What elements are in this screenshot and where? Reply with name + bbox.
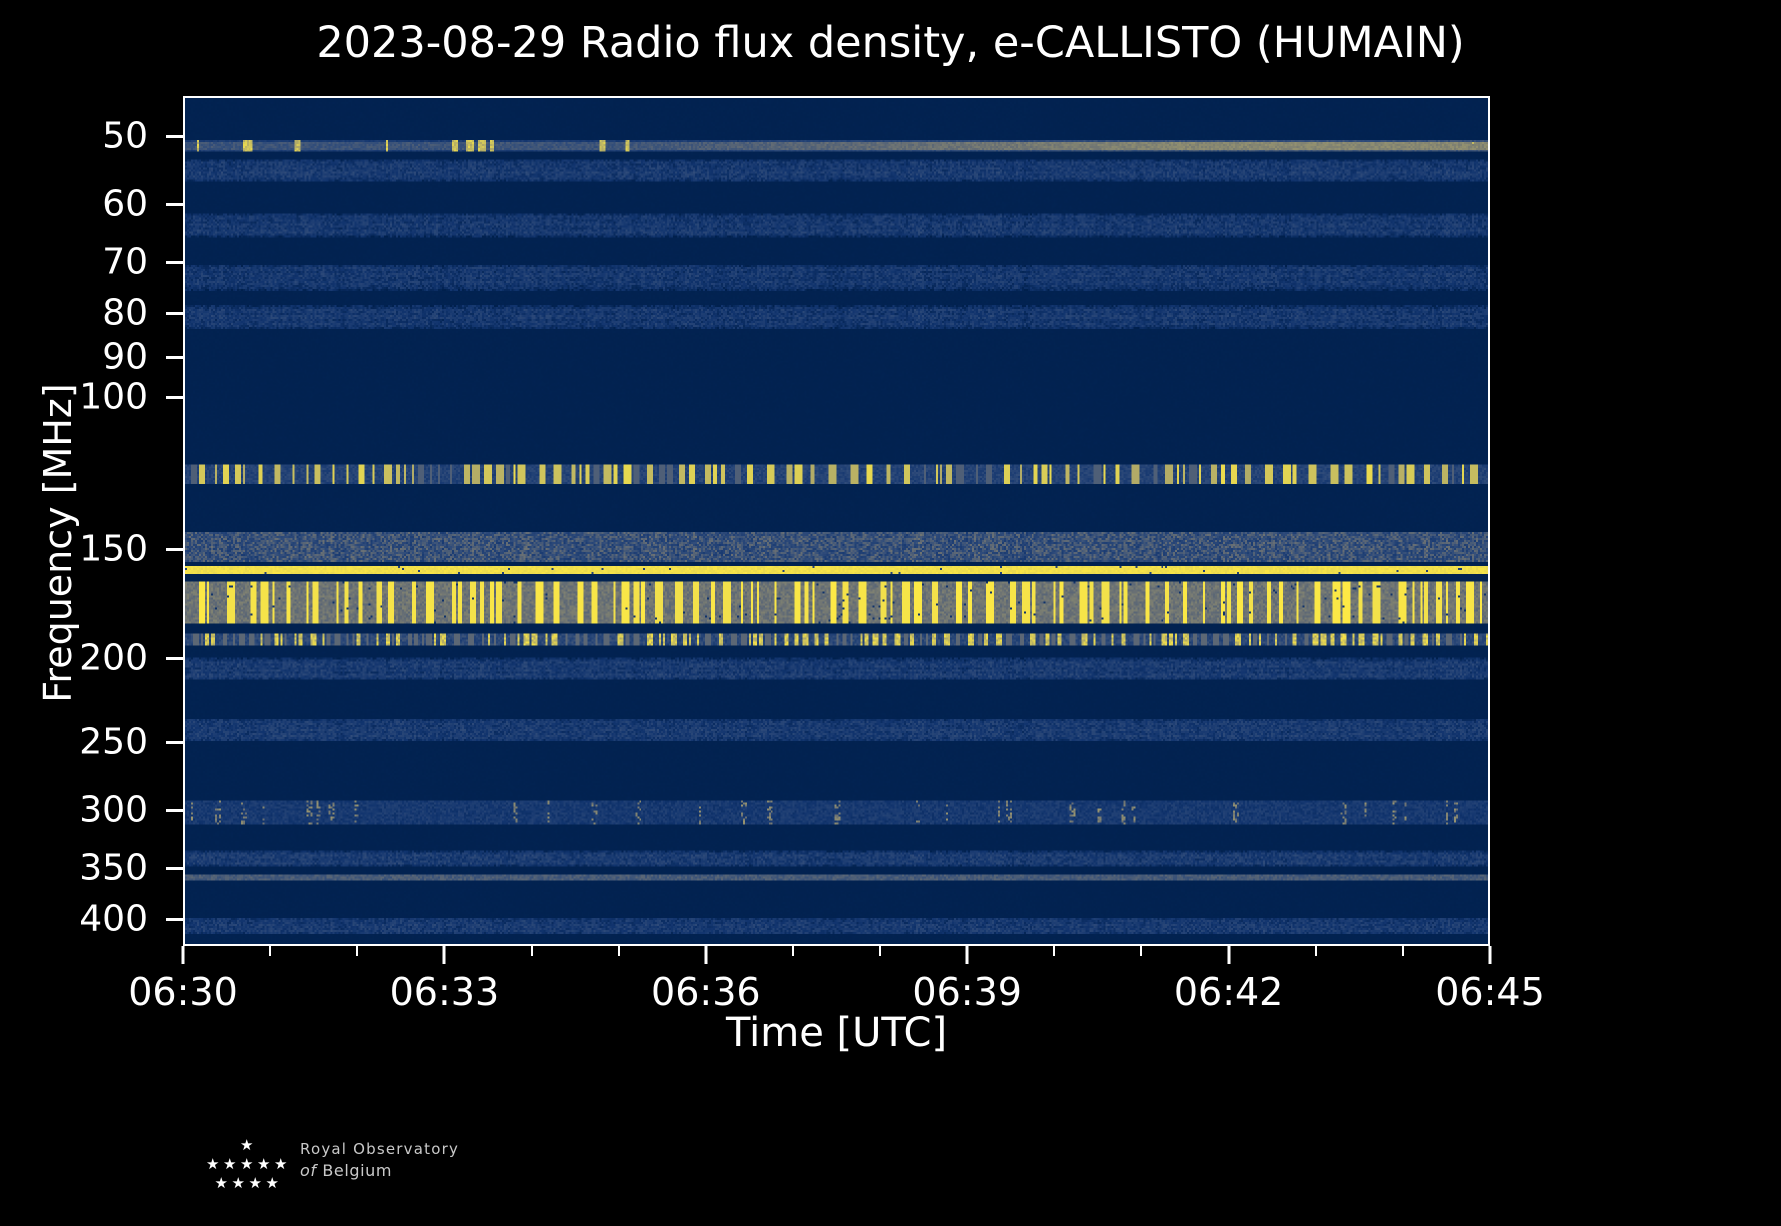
x-axis-tick-mark xyxy=(966,946,969,964)
logo-belgium-word: Belgium xyxy=(322,1161,392,1180)
x-axis-tick-label: 06:30 xyxy=(128,970,238,1014)
x-axis-tick-mark xyxy=(1489,946,1492,964)
x-axis-title: Time [UTC] xyxy=(183,1010,1490,1056)
y-axis-tick-mark xyxy=(166,548,183,551)
star-icon: ★ xyxy=(240,1138,253,1153)
x-axis-tick-mark xyxy=(182,946,185,964)
logo-line-of-belgium: of Belgium xyxy=(300,1161,480,1180)
y-axis-tick-mark xyxy=(166,203,183,206)
x-axis-tick-label: 06:39 xyxy=(912,970,1022,1014)
spectrogram-plot-area[interactable] xyxy=(183,96,1490,946)
star-icon: ★ xyxy=(206,1157,219,1172)
logo-text: Royal Observatory of Belgium xyxy=(300,1140,480,1180)
x-axis-minor-tick xyxy=(1315,946,1317,956)
x-axis-minor-tick xyxy=(618,946,620,956)
y-axis-tick-mark xyxy=(166,261,183,264)
x-axis-minor-tick xyxy=(1053,946,1055,956)
x-axis-tick-mark xyxy=(443,946,446,964)
x-axis-minor-tick xyxy=(1402,946,1404,956)
x-axis-tick-label: 06:45 xyxy=(1435,970,1545,1014)
y-axis-tick-marks xyxy=(0,96,183,946)
logo-stars-icon: ★★★★★★★★★★ xyxy=(196,1138,284,1194)
x-axis-minor-tick xyxy=(792,946,794,956)
y-axis-tick-mark xyxy=(166,741,183,744)
y-axis-tick-mark xyxy=(166,135,183,138)
x-axis-tick-label: 06:42 xyxy=(1174,970,1284,1014)
x-axis-minor-tick xyxy=(356,946,358,956)
y-axis-title: Frequency [MHz] xyxy=(36,223,80,863)
x-axis-tick-mark xyxy=(704,946,707,964)
x-axis-tick-mark xyxy=(1227,946,1230,964)
star-icon: ★ xyxy=(223,1157,236,1172)
y-axis-tick-mark xyxy=(166,312,183,315)
y-axis-tick-mark xyxy=(166,918,183,921)
star-icon: ★ xyxy=(215,1176,228,1191)
spectrogram-image xyxy=(185,98,1488,944)
x-axis-tick-label: 06:36 xyxy=(651,970,761,1014)
star-icon: ★ xyxy=(274,1157,287,1172)
y-axis-tick-mark xyxy=(166,396,183,399)
y-axis-tick-mark xyxy=(166,657,183,660)
y-axis-tick-mark xyxy=(166,356,183,359)
star-icon: ★ xyxy=(249,1176,262,1191)
royal-observatory-logo: ★★★★★★★★★★ Royal Observatory of Belgium xyxy=(196,1138,456,1202)
logo-line-royal-observatory: Royal Observatory xyxy=(300,1140,480,1158)
y-axis-tick-mark xyxy=(166,809,183,812)
star-icon: ★ xyxy=(232,1176,245,1191)
x-axis-minor-tick xyxy=(1140,946,1142,956)
star-icon: ★ xyxy=(266,1176,279,1191)
x-axis-minor-tick xyxy=(269,946,271,956)
star-icon: ★ xyxy=(240,1157,253,1172)
star-icon: ★ xyxy=(257,1157,270,1172)
x-axis-minor-tick xyxy=(879,946,881,956)
spectrogram-page: 2023-08-29 Radio flux density, e-CALLIST… xyxy=(0,0,1781,1226)
page-title: 2023-08-29 Radio flux density, e-CALLIST… xyxy=(0,18,1781,68)
x-axis-tick-label: 06:33 xyxy=(390,970,500,1014)
x-axis-minor-tick xyxy=(531,946,533,956)
logo-of-word: of xyxy=(300,1161,317,1180)
y-axis-tick-mark xyxy=(166,867,183,870)
